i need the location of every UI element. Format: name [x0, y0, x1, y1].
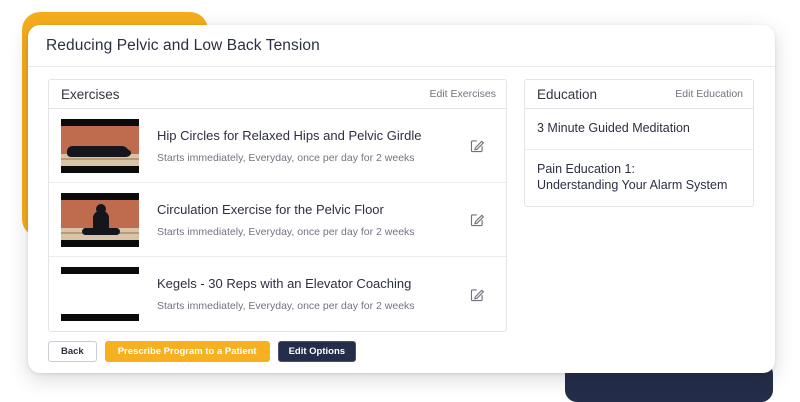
exercise-row[interactable]: Circulation Exercise for the Pelvic Floo…	[49, 183, 506, 257]
exercise-title: Circulation Exercise for the Pelvic Floo…	[157, 202, 460, 217]
edit-options-button[interactable]: Edit Options	[278, 341, 356, 362]
pencil-square-icon	[469, 286, 486, 303]
card-footer: Back Prescribe Program to a Patient Edit…	[28, 341, 775, 373]
exercise-schedule: Starts immediately, Everyday, once per d…	[157, 152, 460, 164]
thumbnail-figure-head	[119, 149, 131, 157]
thumbnail-floor-line	[61, 158, 139, 160]
pencil-square-icon	[469, 137, 486, 154]
exercises-panel-header: Exercises Edit Exercises	[49, 80, 506, 109]
exercise-title: Hip Circles for Relaxed Hips and Pelvic …	[157, 128, 460, 143]
thumbnail-letterbox-bottom	[61, 314, 139, 321]
edit-education-link[interactable]: Edit Education	[675, 88, 743, 100]
education-list-item[interactable]: 3 Minute Guided Meditation	[525, 109, 753, 150]
thumbnail-letterbox-top	[61, 193, 139, 200]
exercise-text: Hip Circles for Relaxed Hips and Pelvic …	[139, 128, 460, 164]
exercises-heading: Exercises	[61, 87, 120, 102]
pencil-square-icon	[469, 211, 486, 228]
exercise-row[interactable]: Hip Circles for Relaxed Hips and Pelvic …	[49, 109, 506, 183]
thumbnail-letterbox-top	[61, 267, 139, 274]
thumbnail-letterbox-bottom	[61, 166, 139, 173]
card-body: Exercises Edit Exercises Hip Circle	[28, 67, 775, 332]
exercise-title: Kegels - 30 Reps with an Elevator Coachi…	[157, 276, 460, 291]
education-panel: Education Edit Education 3 Minute Guided…	[524, 79, 754, 207]
person-seated-cross-legged-thumbnail[interactable]	[61, 193, 139, 247]
person-lying-on-floor-thumbnail[interactable]	[61, 119, 139, 173]
page-title: Reducing Pelvic and Low Back Tension	[46, 37, 320, 55]
exercise-edit-button[interactable]	[460, 211, 494, 228]
prescribe-program-button[interactable]: Prescribe Program to a Patient	[105, 341, 270, 362]
education-heading: Education	[537, 87, 597, 102]
exercises-panel: Exercises Edit Exercises Hip Circle	[48, 79, 507, 332]
card-header: Reducing Pelvic and Low Back Tension	[28, 25, 775, 67]
exercise-edit-button[interactable]	[460, 286, 494, 303]
blank-video-thumbnail[interactable]	[61, 267, 139, 321]
thumbnail-figure-body	[93, 211, 109, 233]
exercise-edit-button[interactable]	[460, 137, 494, 154]
thumbnail-figure-head	[96, 204, 106, 214]
edit-exercises-link[interactable]: Edit Exercises	[429, 88, 496, 100]
program-card: Reducing Pelvic and Low Back Tension Exe…	[28, 25, 775, 373]
exercise-text: Kegels - 30 Reps with an Elevator Coachi…	[139, 276, 460, 312]
screenshot-stage: Reducing Pelvic and Low Back Tension Exe…	[0, 0, 800, 402]
back-button[interactable]: Back	[48, 341, 97, 362]
education-list-item[interactable]: Pain Education 1: Understanding Your Ala…	[525, 150, 753, 206]
exercise-row[interactable]: Kegels - 30 Reps with an Elevator Coachi…	[49, 257, 506, 331]
exercise-text: Circulation Exercise for the Pelvic Floo…	[139, 202, 460, 238]
thumbnail-letterbox-bottom	[61, 240, 139, 247]
thumbnail-letterbox-top	[61, 119, 139, 126]
exercise-schedule: Starts immediately, Everyday, once per d…	[157, 300, 460, 312]
education-panel-header: Education Edit Education	[525, 80, 753, 109]
exercise-schedule: Starts immediately, Everyday, once per d…	[157, 226, 460, 238]
